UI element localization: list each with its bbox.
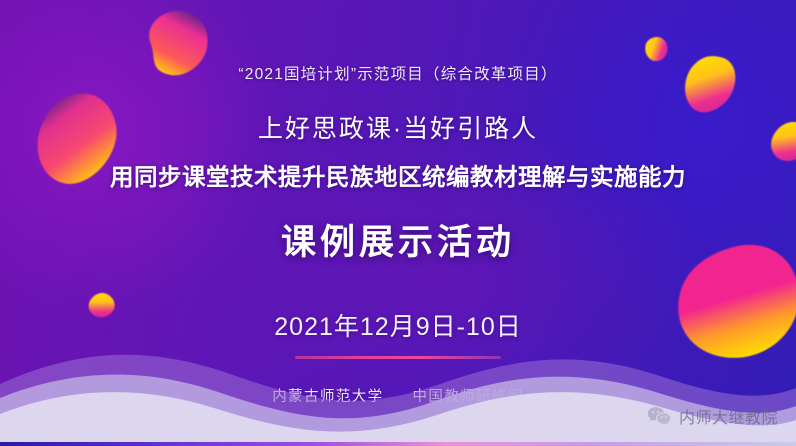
poster-slogan: 上好思政课·当好引路人 — [258, 109, 538, 145]
wave-decoration — [0, 326, 796, 446]
poster-subject: 用同步课堂技术提升民族地区统编教材理解与实施能力 — [110, 158, 686, 192]
wechat-watermark: 内师大继教院 — [647, 404, 778, 428]
poster-headline: 课例展示活动 — [281, 214, 515, 265]
poster-canvas: “2021国培计划”示范项目（综合改革项目） 上好思政课·当好引路人 用同步课堂… — [0, 0, 796, 446]
wechat-account-name: 内师大继教院 — [679, 404, 778, 428]
wechat-icon — [647, 406, 671, 426]
bottom-gradient-strip — [0, 442, 796, 446]
program-eyebrow: “2021国培计划”示范项目（综合改革项目） — [238, 62, 557, 84]
